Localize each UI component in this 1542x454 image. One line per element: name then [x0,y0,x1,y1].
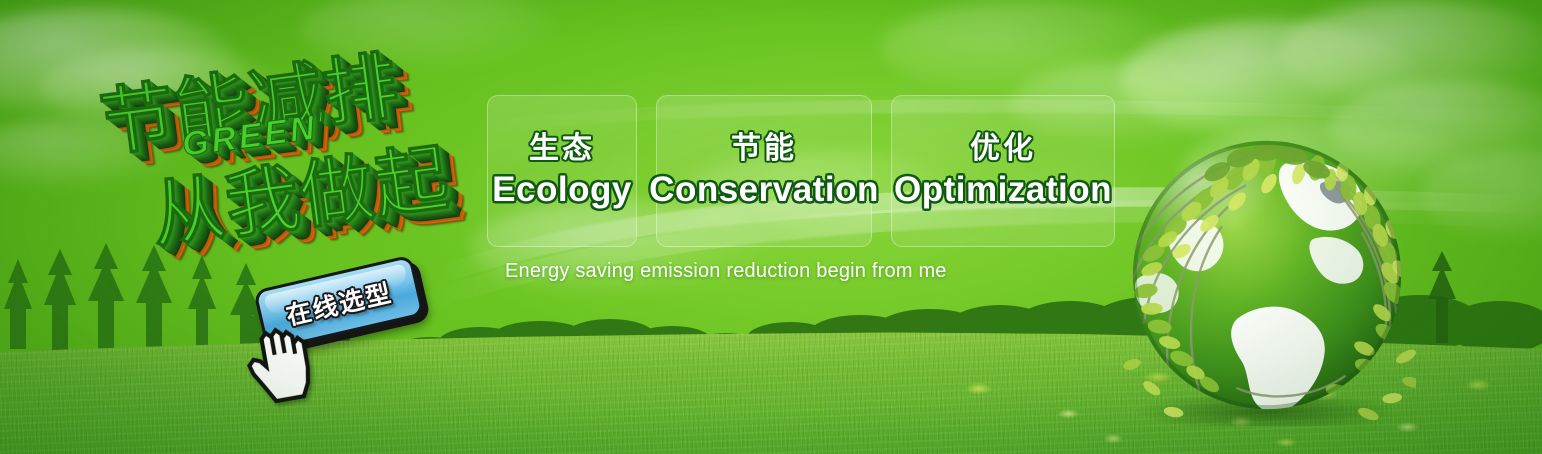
feature-box-conservation[interactable]: 节能 Conservation [656,95,872,247]
feature-en-label: Ecology [492,171,632,210]
feature-cn-label: 优化 [970,132,1036,165]
feature-box-ecology[interactable]: 生态 Ecology [487,95,637,247]
tagline: Energy saving emission reduction begin f… [505,260,947,283]
feature-en-label: Optimization [894,171,1112,210]
feature-box-optimization[interactable]: 优化 Optimization [891,95,1115,247]
vine-covered-globe-icon [1118,128,1416,426]
green-energy-banner: 节能减排 GREEN 从我做起 在线选型 生态 Ecology 节能 Conse… [0,0,1542,454]
feature-en-label: Conservation [649,171,879,210]
feature-cn-label: 生态 [529,132,595,165]
hand-pointer-icon [236,312,327,408]
feature-cn-label: 节能 [731,132,797,165]
feature-box-list: 生态 Ecology 节能 Conservation 优化 Optimizati… [487,95,1117,247]
